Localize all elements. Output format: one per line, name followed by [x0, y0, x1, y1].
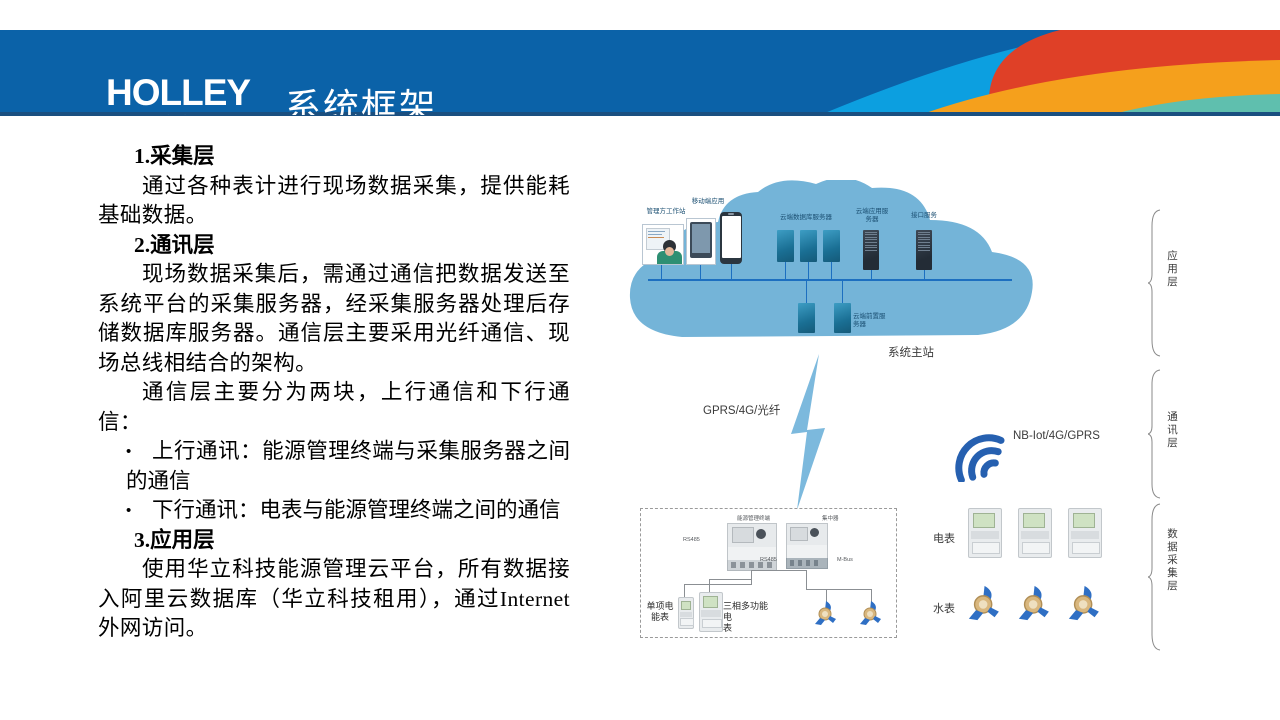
three-phase-meter-label: 三相多功能电 表: [723, 601, 775, 634]
water-meter-icon: [858, 599, 886, 627]
tablet-icon: [686, 218, 716, 265]
section-paragraph-4: 使用华立科技能源管理云平台，所有数据接入阿里云数据库（华立科技租用），通过Int…: [98, 555, 570, 644]
smartphone-drop-line: [731, 264, 732, 280]
bullet-item-uplink: • 上行通讯：能源管理终端与采集服务器之间的通信: [98, 437, 570, 496]
electric-meter-group-label: 电表: [933, 530, 955, 546]
mbus-label: M-Bus: [837, 557, 853, 563]
cloud-region: 管理方工作站 移动端应用 云端数据库服务器: [620, 180, 1040, 350]
water-meter-group-label: 水表: [933, 600, 955, 616]
smartphone-icon: [720, 212, 742, 264]
section-heading-3: 3.应用层: [98, 526, 570, 556]
section-heading-1: 1.采集层: [98, 142, 570, 172]
system-master-label: 系统主站: [888, 344, 934, 360]
water-meter-icon: [813, 599, 841, 627]
rs485-label-left: RS485: [683, 537, 700, 543]
wire-mbus-trunk: [806, 589, 871, 590]
layer-label-data-collection: 数据采集层: [1166, 528, 1179, 593]
logo-wordmark: HOLLEY: [106, 74, 266, 112]
wire-terminal-left: [684, 584, 752, 585]
wireless-medium-label: NB-Iot/4G/GPRS: [1013, 430, 1100, 442]
water-meter-icon: [1066, 582, 1106, 624]
cloud-node-label-db-servers: 云端数据库服务器: [770, 214, 842, 222]
rs485-label-mid: RS485: [760, 557, 777, 563]
wifi-signal-icon: [938, 420, 1006, 482]
bullet-text-downlink: 下行通讯：电表与能源管理终端之间的通信: [126, 496, 570, 526]
single-phase-meter-icon: [678, 597, 694, 629]
logo-chinese-name: 华立科技: [164, 113, 224, 115]
layer-label-application: 应用层: [1166, 250, 1179, 289]
frontend-server-icon-1: [798, 303, 815, 333]
workstation-icon: [642, 224, 684, 265]
body-text-column: 1.采集层 通过各种表计进行现场数据采集，提供能耗基础数据。 2.通讯层 现场数…: [98, 142, 570, 644]
water-meter-icon: [966, 582, 1006, 624]
workstation-drop-line: [661, 263, 662, 280]
brace-communication-layer: [1148, 368, 1164, 500]
concentrator-icon: [786, 523, 826, 570]
wire-terminal-down: [751, 570, 752, 584]
electric-meter-icon-1: [968, 508, 1002, 558]
tablet-drop-line: [700, 263, 701, 280]
brace-data-collection-layer: [1148, 502, 1164, 652]
lightning-bolt-icon: [785, 352, 833, 512]
holley-logo: HOLLEY TECH 华立科技: [106, 74, 266, 115]
db-server-icon-2: [800, 230, 817, 262]
layer-label-communication: 通讯层: [1166, 411, 1179, 450]
section-paragraph-3: 通信层主要分为两块，上行通信和下行通信：: [98, 378, 570, 437]
page-title: 系统框架: [285, 78, 437, 115]
electric-meter-icon-2: [1018, 508, 1052, 558]
db-server-icon-3: [823, 230, 840, 262]
section-paragraph-1: 通过各种表计进行现场数据采集，提供能耗基础数据。: [98, 172, 570, 231]
header-bar: HOLLEY TECH 华立科技 系统框架: [0, 30, 1280, 115]
db-server-icon-1: [777, 230, 794, 262]
terminal-label: 能源管理终端: [737, 514, 770, 522]
cloud-node-label-interface-service: 接口服务: [900, 212, 948, 220]
water-meter-icon: [1016, 582, 1056, 624]
cloud-node-label-app-server: 云端应用服 务器: [848, 208, 896, 224]
app-server-icon: [863, 230, 879, 270]
cloud-node-label-workstation: 管理方工作站: [638, 208, 694, 216]
concentrator-label: 集中器: [822, 514, 839, 522]
uplink-medium-label: GPRS/4G/光纤: [703, 402, 780, 418]
wire-terminal-to-concentrator: [751, 570, 806, 571]
section-paragraph-2: 现场数据采集后，需通过通信把数据发送至系统平台的采集服务器，经采集服务器处理后存…: [98, 260, 570, 378]
cloud-node-label-frontend-server: 云端前置服 务器: [853, 313, 901, 329]
bullet-item-downlink: • 下行通讯：电表与能源管理终端之间的通信: [98, 496, 570, 526]
section-heading-2: 2.通讯层: [98, 231, 570, 261]
wire-branch-three-phase: [709, 579, 752, 580]
single-phase-meter-label: 单项电 能表: [643, 601, 677, 623]
bullet-text-uplink: 上行通讯：能源管理终端与采集服务器之间的通信: [126, 437, 570, 496]
interface-server-icon: [916, 230, 932, 270]
frontend-server-icon-2: [834, 303, 851, 333]
wire-concentrator-down: [806, 570, 807, 590]
logo-subtitle: TECH 华立科技: [106, 113, 266, 115]
cloud-bus-line: [648, 279, 1012, 281]
cloud-node-label-mobile: 移动端应用: [682, 198, 734, 206]
brace-application-layer: [1148, 208, 1164, 358]
system-architecture-diagram: 管理方工作站 移动端应用 云端数据库服务器: [600, 130, 1280, 710]
electric-meter-icon-3: [1068, 508, 1102, 558]
field-layer-box: 能源管理终端 集中器 RS485 RS485: [640, 508, 897, 638]
three-phase-meter-icon: [699, 592, 723, 632]
